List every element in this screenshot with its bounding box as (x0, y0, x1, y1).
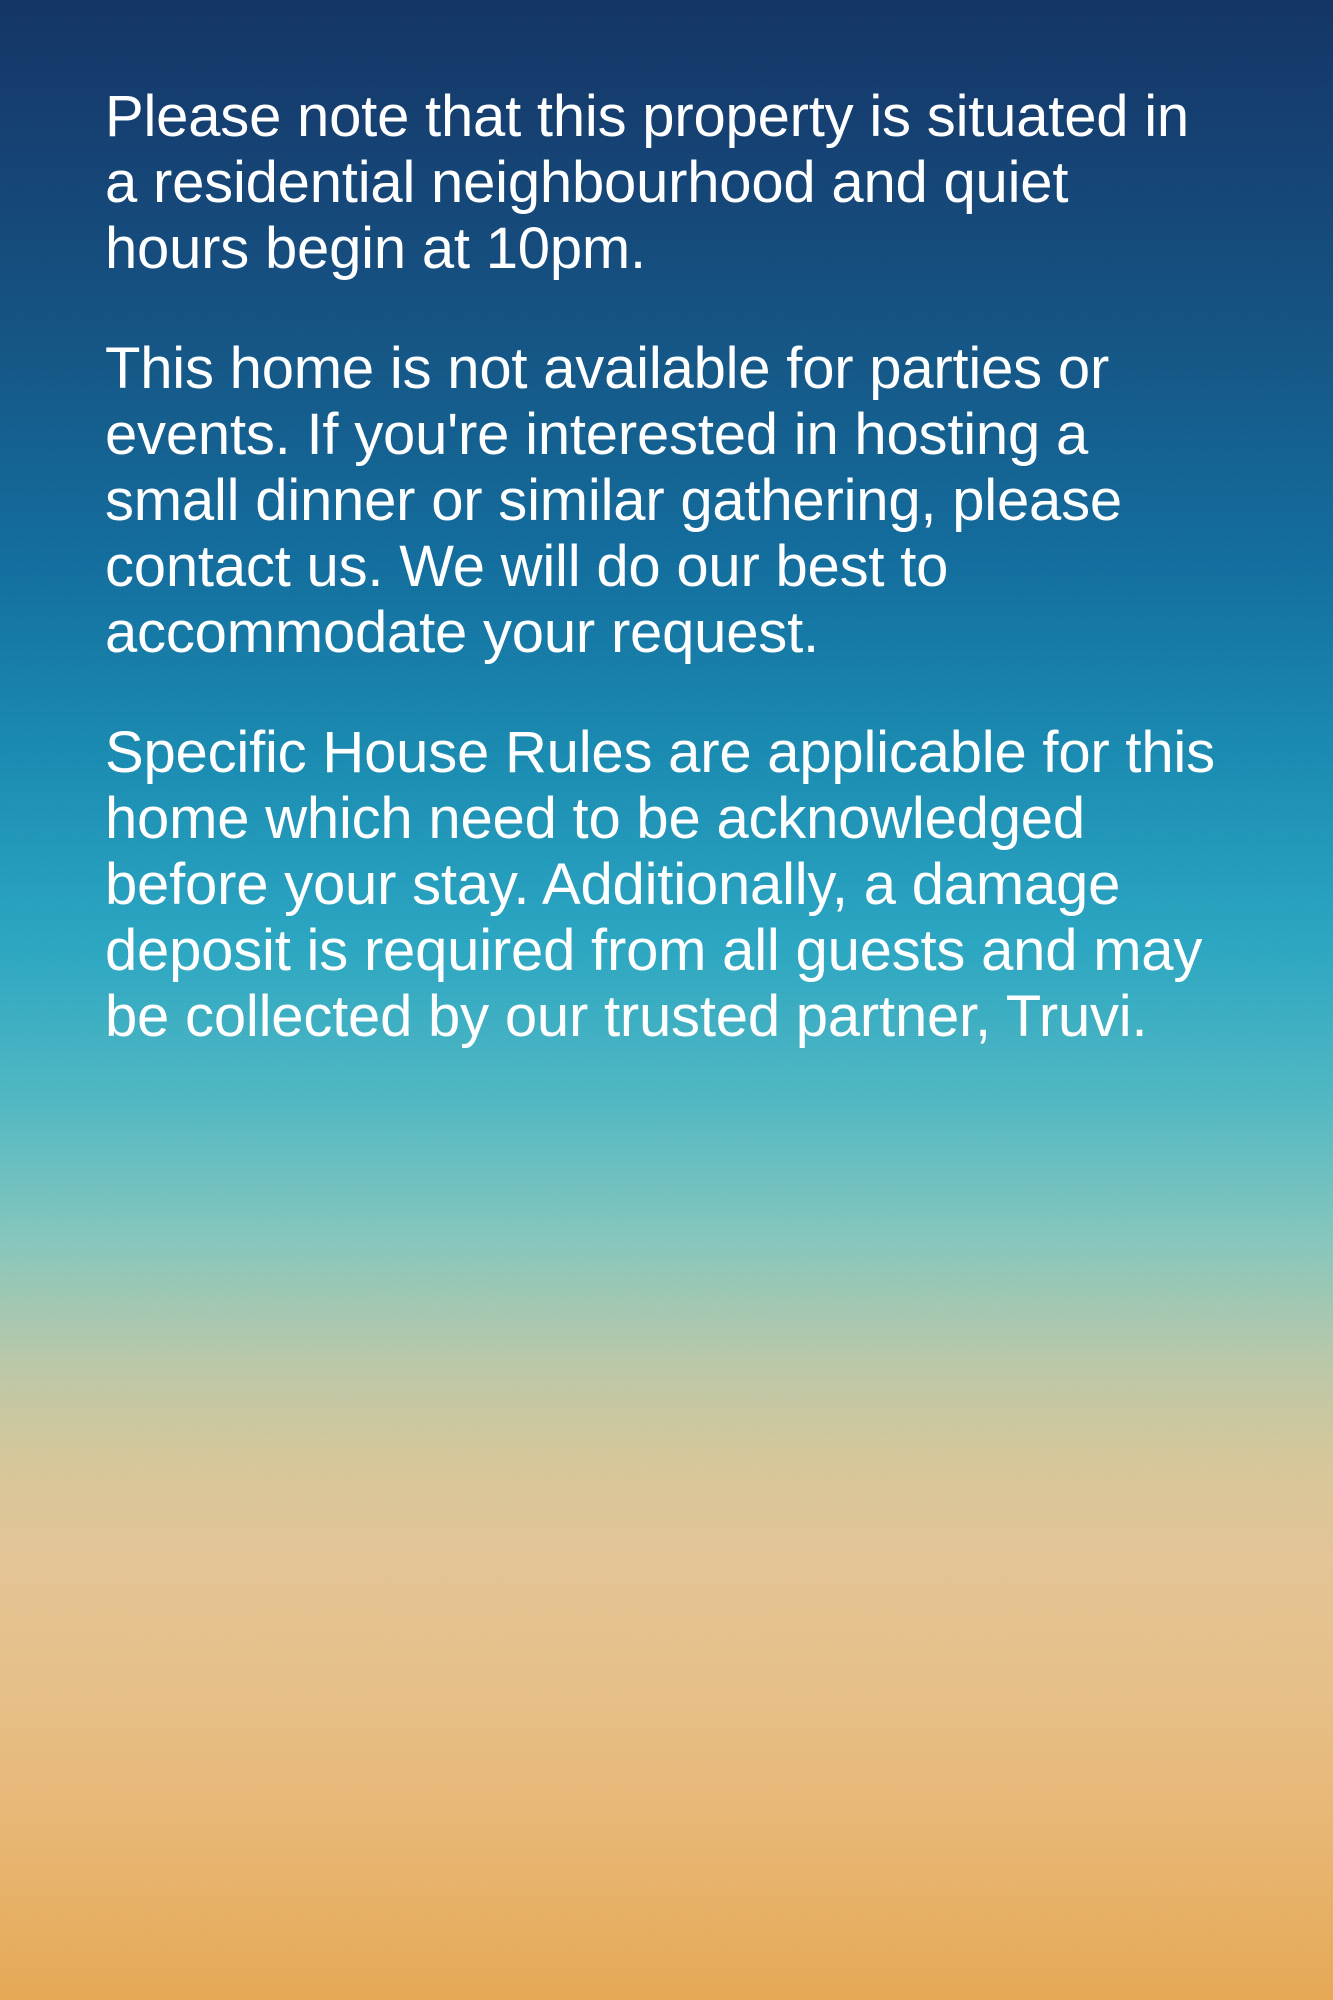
paragraph-quiet-hours-notice: Please note that this property is situat… (105, 84, 1225, 282)
paragraph-house-rules-deposit-notice: Specific House Rules are applicable for … (105, 720, 1225, 1050)
notice-text-block: Please note that this property is situat… (105, 84, 1225, 1050)
paragraph-no-parties-notice: This home is not available for parties o… (105, 336, 1225, 666)
house-rules-poster: Please note that this property is situat… (0, 0, 1333, 2000)
